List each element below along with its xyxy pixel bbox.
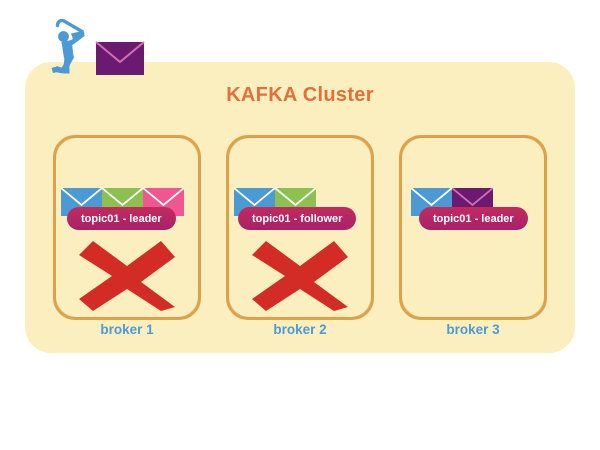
topic-badge: topic01 - follower	[238, 207, 356, 230]
failure-x-icon	[79, 241, 175, 311]
failure-x-icon	[252, 241, 348, 311]
kafka-cluster-panel: KAFKA Cluster topic01 - leader	[25, 62, 575, 353]
producer-group	[44, 16, 154, 86]
broker-node-1[interactable]: topic01 - leader broker 1	[53, 135, 201, 341]
broker-label: broker 1	[53, 322, 201, 337]
diagram-canvas: KAFKA Cluster topic01 - leader	[0, 0, 600, 450]
topic-badge: topic01 - leader	[67, 207, 176, 230]
broker-node-2[interactable]: topic01 - follower broker 2	[226, 135, 374, 341]
page-title: KAFKA Cluster	[25, 84, 575, 107]
golfer-icon	[52, 21, 85, 74]
broker-list: topic01 - leader broker 1	[53, 135, 547, 341]
topic-badge: topic01 - leader	[419, 207, 528, 230]
producer-message-envelope-icon	[96, 42, 144, 75]
broker-label: broker 3	[399, 322, 547, 337]
broker-node-3[interactable]: topic01 - leader broker 3	[399, 135, 547, 341]
broker-label: broker 2	[226, 322, 374, 337]
